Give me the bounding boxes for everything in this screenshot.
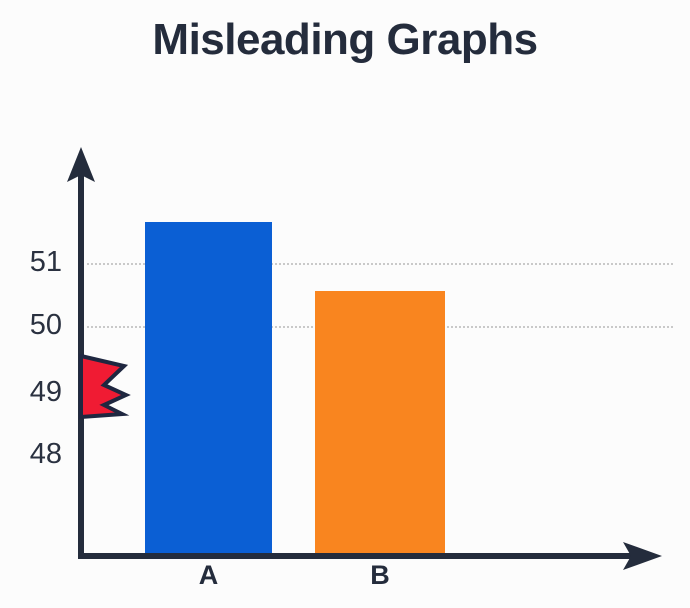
chart-axes <box>0 0 690 608</box>
x-axis-label-a: A <box>145 562 272 589</box>
plot-area: 51 50 49 48 A B <box>0 0 690 608</box>
chart-page: Misleading Graphs 51 50 49 48 A B <box>0 0 690 608</box>
x-axis-label-b: B <box>315 562 445 589</box>
